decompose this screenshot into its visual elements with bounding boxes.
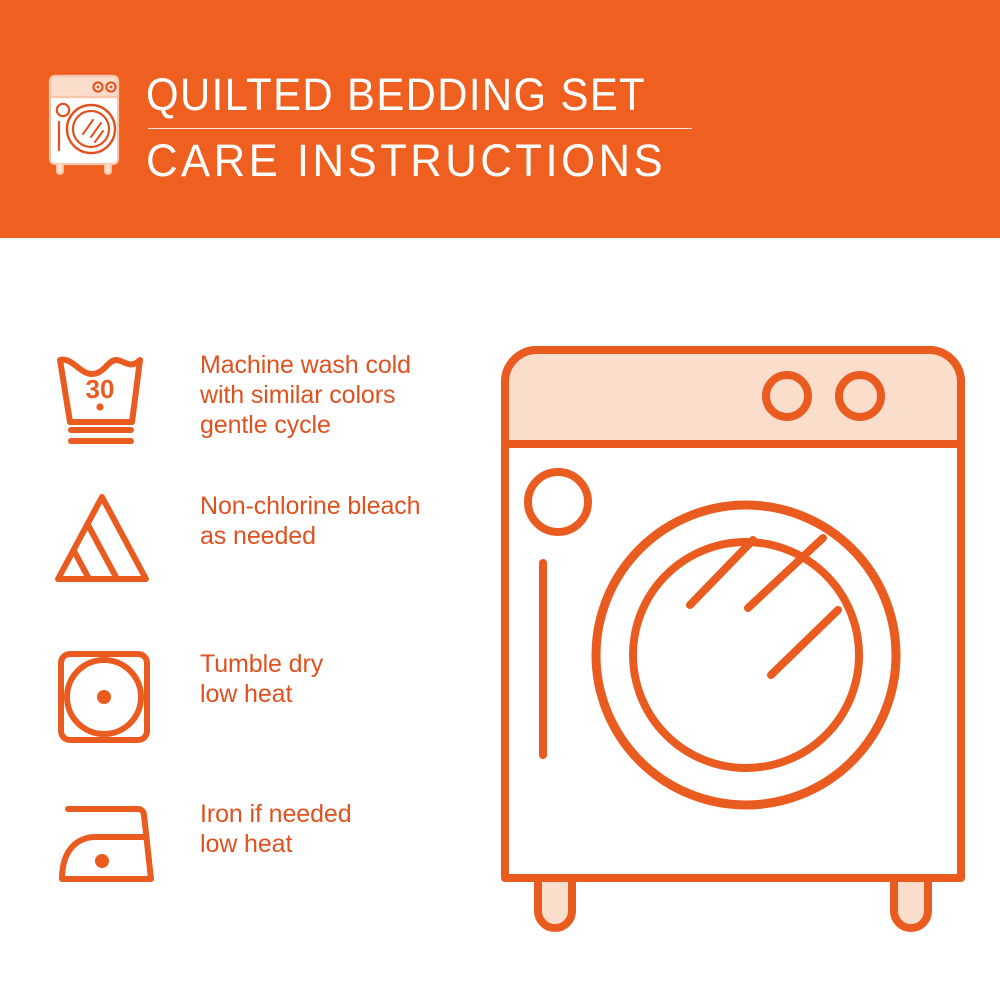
- header-titles: QUILTED BEDDING SET CARE INSTRUCTIONS: [146, 70, 706, 186]
- low-heat-dot: [97, 690, 111, 704]
- header-band: QUILTED BEDDING SET CARE INSTRUCTIONS: [0, 0, 1000, 238]
- care-text-dry: Tumble dry low heat: [200, 647, 323, 709]
- care-text-iron: Iron if needed low heat: [200, 797, 352, 859]
- non-chlorine-bleach-triangle-icon: [52, 489, 162, 589]
- leg: [538, 878, 572, 928]
- care-row-wash: 30 Machine wash cold with similar colors…: [52, 348, 472, 448]
- gentle-cycle-dot: [96, 403, 103, 410]
- leg: [894, 878, 928, 928]
- title-divider: [148, 128, 692, 129]
- care-text-wash: Machine wash cold with similar colors ge…: [200, 348, 411, 440]
- care-instructions-page: QUILTED BEDDING SET CARE INSTRUCTIONS 30…: [0, 0, 1000, 1000]
- control-panel: [505, 350, 961, 444]
- low-heat-dot: [95, 854, 109, 868]
- care-row-bleach: Non-chlorine bleach as needed: [52, 489, 472, 589]
- washing-machine-illustration: [488, 330, 978, 945]
- page-subtitle: CARE INSTRUCTIONS: [146, 136, 689, 186]
- care-row-dry: Tumble dry low heat: [52, 647, 472, 747]
- iron-icon: [52, 797, 162, 897]
- wash-temperature-label: 30: [86, 374, 115, 404]
- page-title: QUILTED BEDDING SET: [146, 70, 667, 120]
- care-row-iron: Iron if needed low heat: [52, 797, 472, 897]
- tumble-dry-square-icon: [52, 647, 162, 747]
- care-text-bleach: Non-chlorine bleach as needed: [200, 489, 420, 551]
- washing-machine-icon: [44, 72, 130, 176]
- machine-wash-tub-icon: 30: [52, 348, 162, 448]
